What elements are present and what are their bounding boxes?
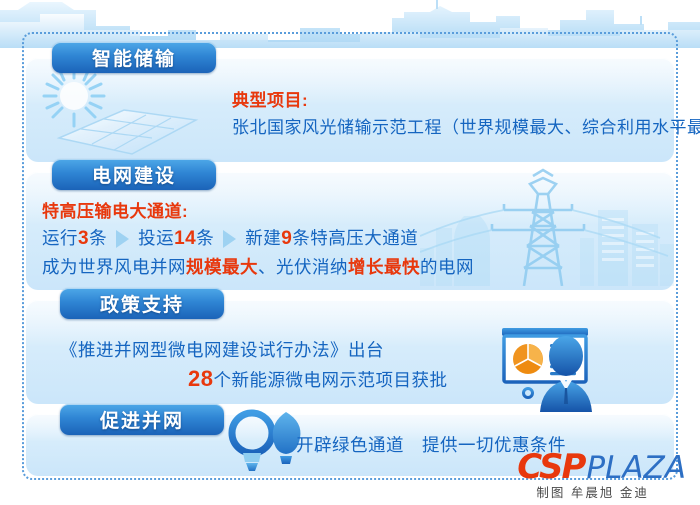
csp-logo-mark: CSP bbox=[517, 450, 584, 484]
section-title-policy-support[interactable]: 政策支持 bbox=[60, 288, 224, 319]
summary-part-2: 规模最大 bbox=[186, 257, 258, 277]
section2-flow-steps: 运行3条 投运14条 新建9条特高压大通道 bbox=[42, 225, 418, 250]
section-title-smart-storage[interactable]: 智能储输 bbox=[52, 42, 216, 73]
section-panel-smart-storage bbox=[26, 58, 674, 162]
infographic-poster: 智能储输 典型项目: 张北国家风光储输示范工程（世界规模最大、综合利用水平最高） bbox=[0, 0, 700, 505]
summary-part-1: 成为世界风电并网 bbox=[42, 257, 186, 277]
approved-text: 个新能源微电网示范项目获批 bbox=[213, 370, 447, 390]
arrow-right-icon-1 bbox=[116, 230, 129, 248]
section1-project-line: 张北国家风光储输示范工程（世界规模最大、综合利用水平最高） bbox=[232, 113, 700, 138]
section2-label: 特高压输电大通道: bbox=[42, 197, 188, 222]
section1-label: 典型项目: bbox=[232, 86, 308, 111]
section2-summary: 成为世界风电并网规模最大、光伏消纳增长最快的电网 bbox=[42, 254, 474, 279]
flow-step-3: 新建9条特高压大通道 bbox=[245, 225, 418, 250]
section3-approved-line: 28个新能源微电网示范项目获批 bbox=[188, 366, 447, 392]
skyline-decoration bbox=[0, 0, 700, 48]
summary-part-5: 的电网 bbox=[420, 257, 474, 277]
logo-row: CSP PLAZA bbox=[517, 450, 686, 484]
flow-step-1: 运行3条 bbox=[42, 225, 107, 250]
summary-part-4: 增长最快 bbox=[348, 257, 420, 277]
flow-step-2: 投运14条 bbox=[138, 225, 214, 250]
section3-policy-line: 《推进并网型微电网建设试行办法》出台 bbox=[60, 337, 384, 362]
arrow-right-icon-2 bbox=[223, 230, 236, 248]
section-title-grid-construction[interactable]: 电网建设 bbox=[52, 159, 216, 190]
logo-watermark: CSP PLAZA 制图 牟晨旭 金迪 bbox=[517, 450, 686, 500]
plaza-logo-word: PLAZA bbox=[586, 453, 686, 484]
section-title-promote-grid-connection[interactable]: 促进并网 bbox=[60, 404, 224, 435]
summary-part-3: 、光伏消纳 bbox=[258, 257, 348, 277]
approved-count: 28 bbox=[188, 366, 213, 391]
credit-line: 制图 牟晨旭 金迪 bbox=[517, 487, 686, 500]
